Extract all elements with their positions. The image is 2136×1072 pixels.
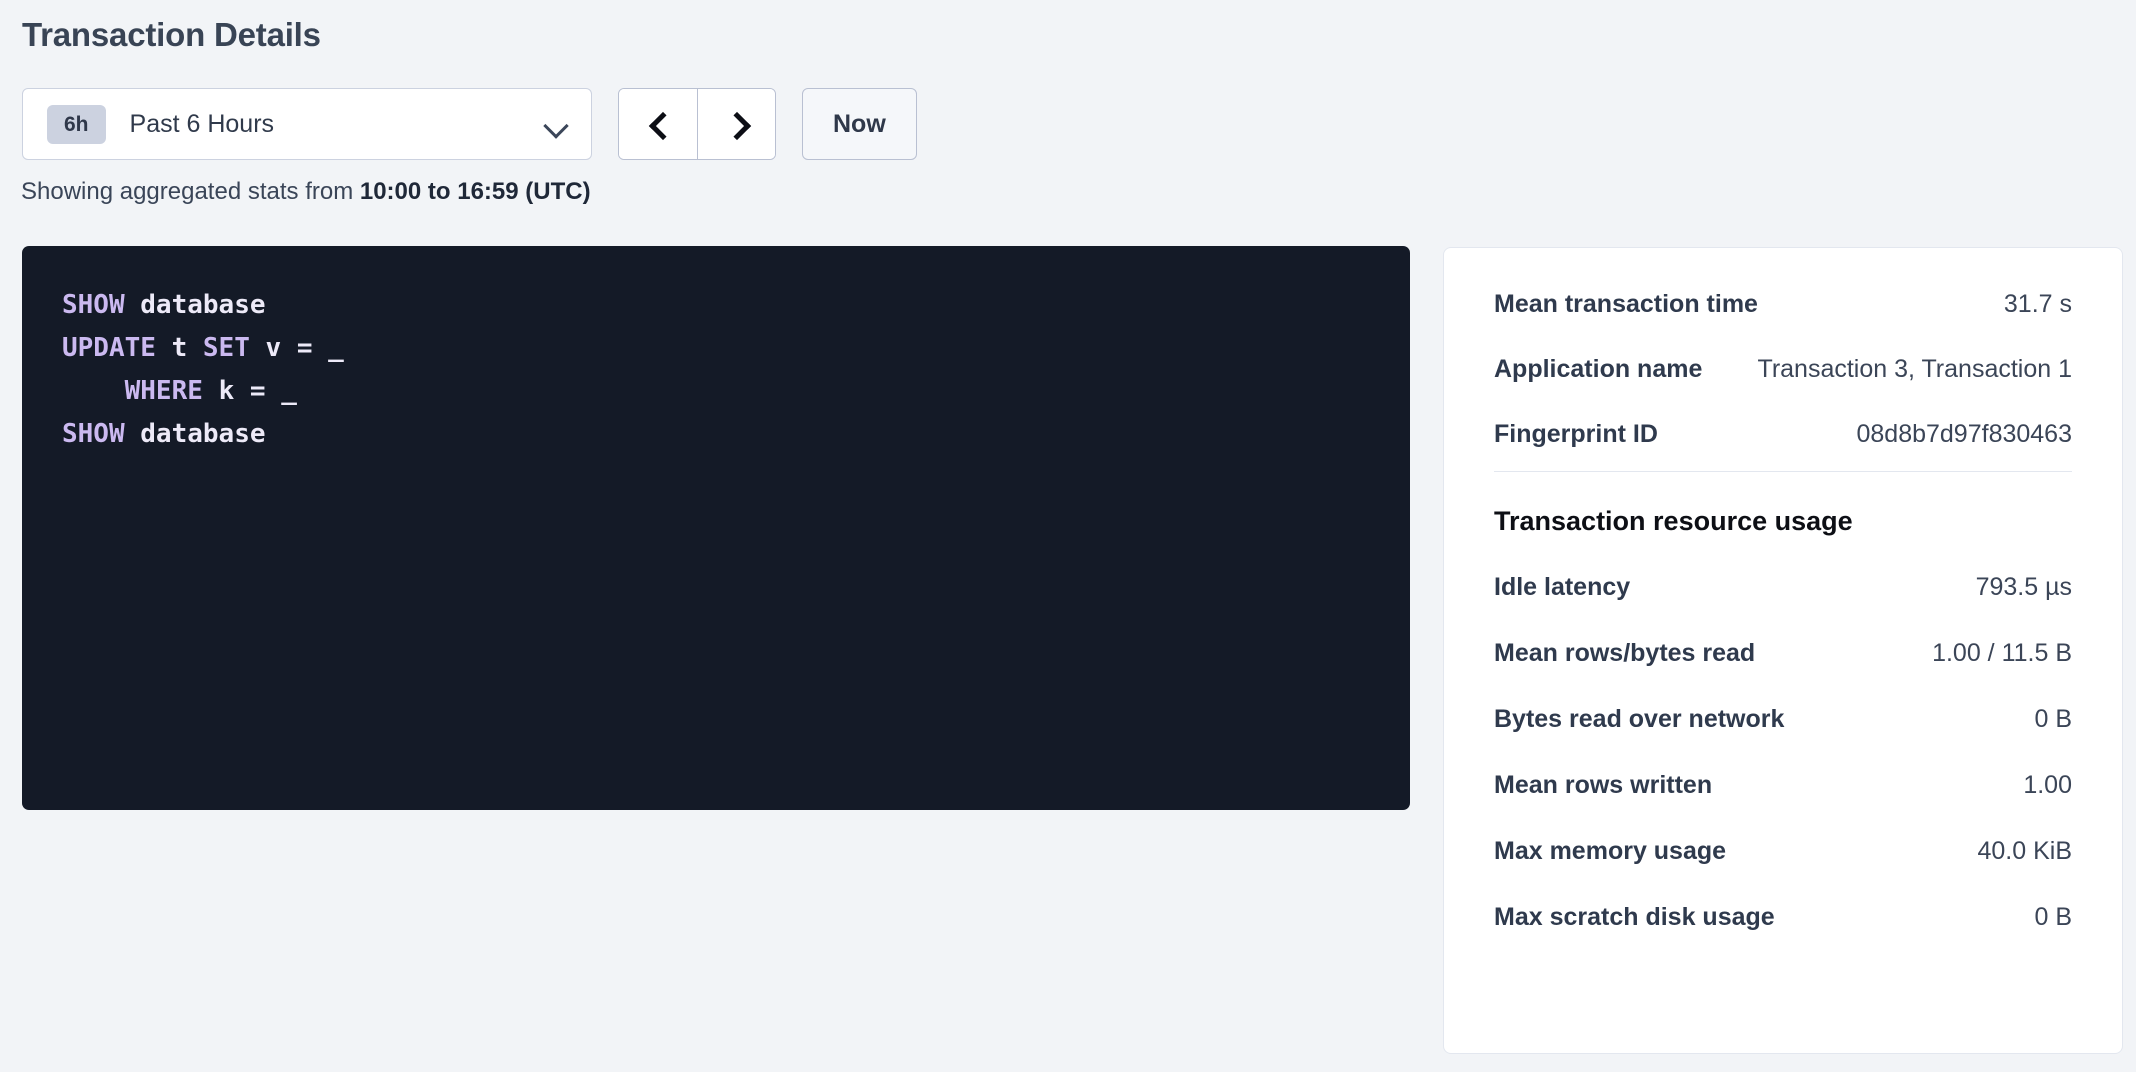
time-range-select[interactable]: 6h Past 6 Hours [22,88,592,160]
detail-row-value: 08d8b7d97f830463 [1856,420,2072,449]
sql-token-plain [266,376,282,406]
now-button[interactable]: Now [802,88,917,160]
detail-row: Application nameTransaction 3, Transacti… [1494,355,2072,384]
transaction-details-page: Transaction Details 6h Past 6 Hours Now … [0,0,2136,1072]
sql-token-plain [203,376,219,406]
detail-row: Mean transaction time31.7 s [1494,290,2072,319]
sql-token-operator: = [297,333,313,363]
sql-token-keyword: UPDATE [62,333,156,363]
detail-row-value: 1.00 / 11.5 B [1932,639,2072,668]
sql-token-identifier: _ [328,333,344,363]
time-range-label: Past 6 Hours [130,110,543,139]
detail-row-label: Max scratch disk usage [1494,903,1775,932]
detail-row: Mean rows written1.00 [1494,771,2072,800]
sql-token-identifier: t [172,333,188,363]
time-range-badge: 6h [47,105,106,144]
sql-token-plain [312,333,328,363]
sql-token-plain [281,333,297,363]
sql-token-identifier: database [140,290,265,320]
detail-row-value: 1.00 [2023,771,2072,800]
sql-token-identifier: _ [281,376,297,406]
time-nav-group [618,88,776,160]
sql-token-plain [250,333,266,363]
detail-row-label: Mean rows/bytes read [1494,639,1755,668]
chevron-down-icon [543,111,569,137]
detail-row-label: Fingerprint ID [1494,420,1658,449]
chevron-right-icon [726,113,748,135]
resource-usage-title: Transaction resource usage [1494,506,2072,537]
detail-row-value: 0 B [2034,705,2072,734]
sql-token-keyword: SHOW [62,290,125,320]
detail-row-label: Max memory usage [1494,837,1726,866]
sql-token-keyword: SHOW [62,419,125,449]
detail-row-value: 0 B [2034,903,2072,932]
aggregation-note: Showing aggregated stats from 10:00 to 1… [21,178,591,206]
sql-token-plain [156,333,172,363]
time-range-toolbar: 6h Past 6 Hours Now [22,88,917,160]
detail-row-label: Application name [1494,355,1702,384]
sql-token-operator: = [250,376,266,406]
detail-row-label: Mean transaction time [1494,290,1758,319]
sql-code-panel[interactable]: SHOW database UPDATE t SET v = _ WHERE k… [22,246,1410,810]
section-divider [1494,471,2072,472]
sql-token-plain [125,290,141,320]
detail-row-value: Transaction 3, Transaction 1 [1757,355,2072,384]
detail-row-label: Idle latency [1494,573,1630,602]
detail-row: Mean rows/bytes read1.00 / 11.5 B [1494,639,2072,668]
sql-code: SHOW database UPDATE t SET v = _ WHERE k… [62,284,1410,456]
sql-token-plain [187,333,203,363]
detail-row-value: 793.5 µs [1976,573,2072,602]
detail-row: Fingerprint ID08d8b7d97f830463 [1494,420,2072,449]
sql-token-identifier: k [219,376,235,406]
previous-period-button[interactable] [619,89,697,159]
sql-token-identifier: database [140,419,265,449]
detail-row-label: Mean rows written [1494,771,1712,800]
sql-token-keyword: WHERE [125,376,203,406]
page-title: Transaction Details [22,16,321,54]
detail-row: Max scratch disk usage0 B [1494,903,2072,932]
next-period-button[interactable] [697,89,775,159]
detail-row: Idle latency793.5 µs [1494,573,2072,602]
aggregation-note-range: 10:00 to 16:59 (UTC) [360,178,591,205]
detail-row: Max memory usage40.0 KiB [1494,837,2072,866]
sql-token-plain [125,419,141,449]
sql-token-identifier: v [266,333,282,363]
detail-row-value: 31.7 s [2004,290,2072,319]
transaction-summary-card: Mean transaction time31.7 sApplication n… [1443,247,2123,1054]
aggregation-note-prefix: Showing aggregated stats from [21,178,360,205]
detail-row-label: Bytes read over network [1494,705,1784,734]
sql-token-plain [234,376,250,406]
sql-token-keyword: SET [203,333,250,363]
detail-row: Bytes read over network0 B [1494,705,2072,734]
summary-list: Mean transaction time31.7 sApplication n… [1494,290,2072,449]
detail-row-value: 40.0 KiB [1977,837,2072,866]
chevron-left-icon [647,113,669,135]
resource-usage-list: Idle latency793.5 µsMean rows/bytes read… [1494,573,2072,932]
